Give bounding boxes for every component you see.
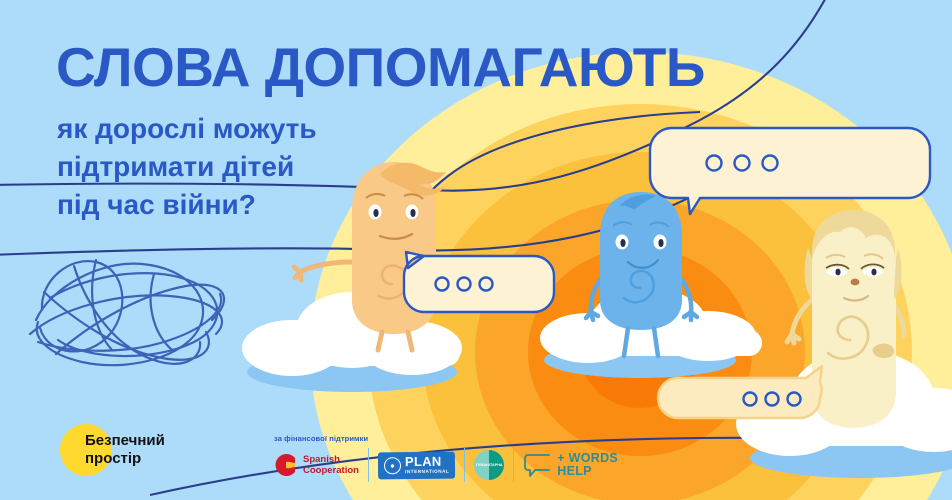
speech-bubble-icon bbox=[523, 452, 553, 478]
safe-space-line-1: Безпечний bbox=[85, 432, 165, 450]
green-circle-logo: ГУМАНІТАРНА bbox=[474, 450, 504, 480]
subheadline: як дорослі можуть підтримати дітей під ч… bbox=[57, 110, 477, 224]
plan-person-icon: ● bbox=[384, 457, 401, 474]
headline: СЛОВА ДОПОМАГАЮТЬ bbox=[56, 38, 816, 96]
spanish-cooperation-logo: Spanish Cooperation bbox=[272, 452, 359, 478]
spanish-cooperation-line-2: Cooperation bbox=[303, 465, 359, 476]
safe-space-logo: Безпечний простір bbox=[60, 424, 240, 484]
plan-main-text: PLAN bbox=[405, 455, 449, 467]
green-circle-label: ГУМАНІТАРНА bbox=[476, 463, 503, 467]
speech-bubble-left bbox=[404, 252, 554, 312]
words-help-logo: + WORDS HELP bbox=[523, 452, 618, 478]
spanish-cooperation-line-1: Spanish bbox=[303, 454, 359, 465]
partner-logos: за фінансової підтримки Spanish Cooperat… bbox=[272, 424, 618, 482]
spanish-cooperation-text: Spanish Cooperation bbox=[303, 454, 359, 476]
spanish-cooperation-icon bbox=[272, 452, 298, 478]
safe-space-line-2: простір bbox=[85, 450, 165, 468]
subheadline-line-3: під час війни? bbox=[57, 186, 477, 224]
words-help-line-2: HELP bbox=[557, 465, 618, 478]
funding-block: за фінансової підтримки Spanish Cooperat… bbox=[272, 434, 618, 482]
divider bbox=[513, 448, 514, 482]
subheadline-line-2: підтримати дітей bbox=[57, 148, 477, 186]
divider bbox=[368, 448, 369, 482]
campaign-banner: СЛОВА ДОПОМАГАЮТЬ як дорослі можуть підт… bbox=[0, 0, 952, 500]
subheadline-line-1: як дорослі можуть bbox=[57, 110, 477, 148]
plan-sub-text: INTERNATIONAL bbox=[405, 467, 449, 474]
funding-note: за фінансової підтримки bbox=[274, 434, 618, 443]
divider bbox=[464, 448, 465, 482]
plan-international-logo: ● PLAN INTERNATIONAL bbox=[378, 451, 456, 479]
safe-space-logo-text: Безпечний простір bbox=[85, 432, 165, 468]
